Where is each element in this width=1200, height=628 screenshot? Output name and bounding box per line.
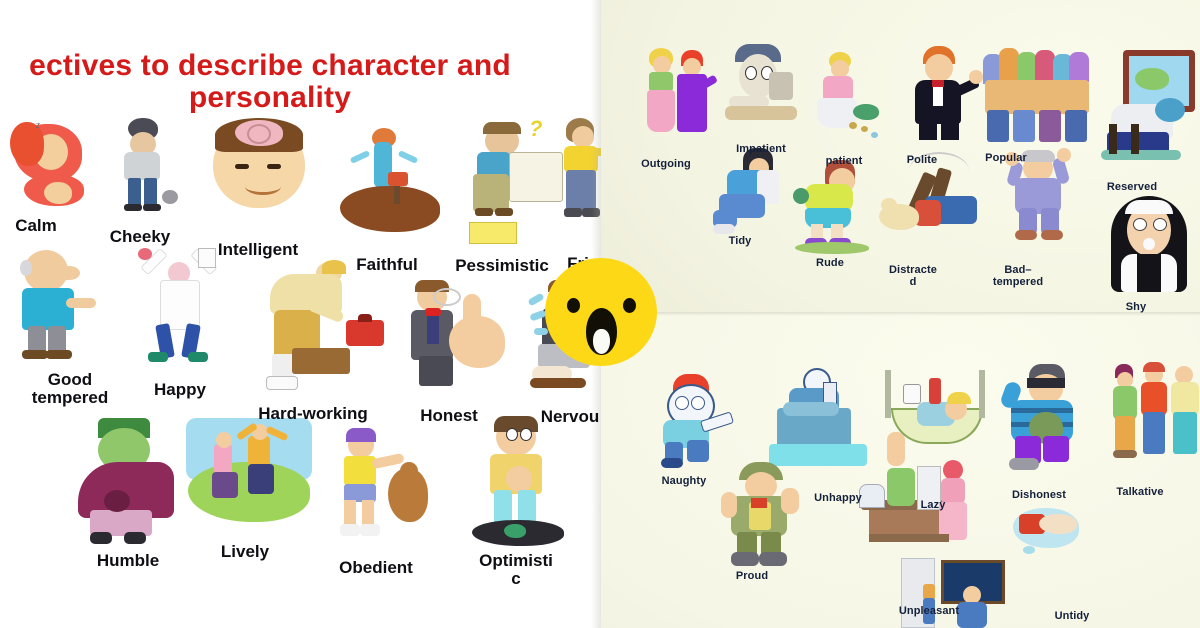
word-label: Shy (1091, 302, 1181, 314)
word-label: Lazy (888, 500, 978, 512)
clipart-unpleasant (853, 460, 971, 564)
clipart-obedient (330, 428, 430, 548)
clipart-talkative (1113, 360, 1200, 470)
word-label: Intelligent (193, 241, 323, 259)
word-label: Proud (707, 571, 797, 583)
clipart-calm: z (8, 120, 98, 210)
clipart-proud (719, 462, 803, 572)
word-label: Rude (785, 258, 875, 270)
collage-canvas: z (0, 0, 1200, 628)
clipart-friendly (556, 118, 601, 230)
word-label: Hard-working (248, 405, 378, 423)
face-with-open-mouth-emoji (545, 258, 657, 366)
word-label: Cheeky (75, 228, 205, 246)
clipart-optimistic (470, 418, 566, 546)
word-label: Impatient (716, 144, 806, 156)
left-slide-title: ectives to describe character and person… (0, 50, 580, 113)
clipart-pessimistic: ? (455, 116, 565, 242)
word-label: Reserved (1087, 182, 1177, 194)
clipart-reserved (1101, 50, 1197, 166)
clipart-popular (983, 48, 1093, 146)
word-label: Untidy (1027, 611, 1117, 623)
clipart-good-tempered (14, 250, 106, 368)
clipart-hard-working (260, 262, 384, 398)
word-label: Talkative (1095, 487, 1185, 499)
clipart-cheeky (112, 118, 182, 214)
word-label: Distracte d (868, 265, 958, 289)
clipart-humble (76, 418, 184, 546)
clipart-shy (1103, 196, 1195, 298)
clipart-honest (405, 282, 513, 400)
word-label: Dishonest (994, 490, 1084, 502)
word-label: Naughty (639, 476, 729, 488)
clipart-happy (136, 248, 222, 368)
word-label: Lively (180, 543, 310, 561)
word-label: Polite (877, 155, 967, 167)
word-label: Nervou (505, 408, 635, 426)
word-label: Honest (384, 407, 514, 425)
clipart-rude (791, 160, 873, 254)
left-slide-panel: z (0, 0, 601, 628)
clipart-bowl-hand (1013, 504, 1083, 552)
emoji-mouth (586, 308, 617, 355)
clipart-lively (186, 418, 312, 528)
word-label: Popular (961, 153, 1051, 165)
emoji-left-eye (567, 298, 580, 313)
clipart-tidy (713, 148, 793, 240)
emoji-right-eye (623, 298, 636, 313)
word-label: Optimisti c (451, 552, 581, 589)
word-label: Tidy (695, 236, 785, 248)
word-label: Humble (63, 552, 193, 570)
bottom-right-slide-panel: Adjectives to describe character and per… (601, 312, 1200, 628)
word-label: Happy (115, 381, 245, 399)
clipart-patient (809, 52, 889, 142)
clipart-impatient (721, 44, 801, 140)
word-label: patient (799, 156, 889, 168)
clipart-unhappy (769, 368, 869, 468)
clipart-naughty (649, 374, 745, 470)
word-label: Unhappy (793, 493, 883, 505)
word-label: Outgoing (621, 159, 711, 171)
clipart-polite (901, 46, 981, 144)
word-label: Unpleasant (884, 606, 974, 618)
word-label: Obedient (311, 559, 441, 577)
clipart-dishonest (1001, 364, 1093, 474)
clipart-intelligent (205, 112, 313, 222)
clipart-faithful (338, 120, 442, 242)
word-label: Faithful (322, 256, 452, 274)
word-label: Bad– tempered (973, 265, 1063, 289)
clipart-outgoing (641, 48, 719, 144)
